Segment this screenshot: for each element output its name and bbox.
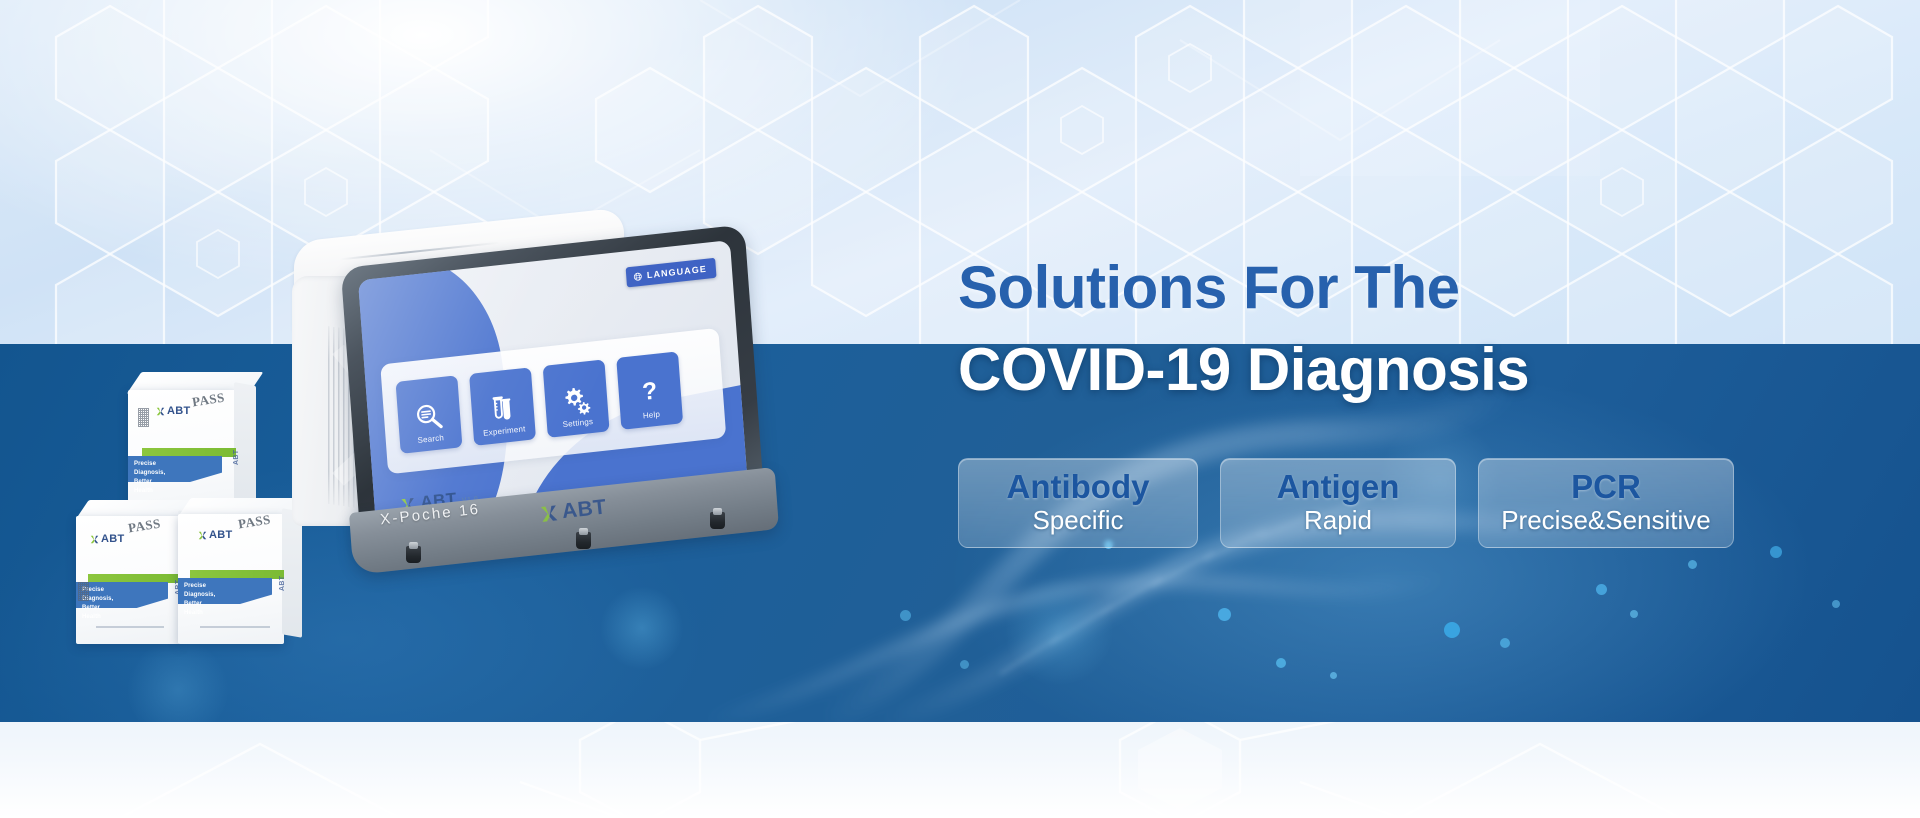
language-button[interactable]: LANGUAGE — [625, 258, 716, 288]
kit-box-qr-code — [138, 408, 149, 427]
app-label-search: Search — [417, 433, 444, 445]
kit-box-green-band — [190, 570, 284, 579]
pcr-instrument: LANGUAGE Search — [288, 228, 908, 628]
abt-x-icon — [198, 531, 207, 540]
abt-x-icon — [539, 503, 559, 523]
kit-box-tagline: Precise Diagnosis, Better Health — [134, 460, 165, 496]
kit-brand-text: ABT — [101, 534, 125, 545]
headline-line-1: Solutions For The — [958, 258, 1718, 318]
badge-antigen[interactable]: Antigen Rapid — [1220, 458, 1456, 548]
device-base-brand-text: ABT — [561, 496, 608, 522]
covid-diagnosis-banner: Precise Diagnosis, Better Health ABT PAS… — [0, 0, 1920, 818]
svg-text:?: ? — [641, 377, 658, 406]
kit-tagline-line2: Better Health — [82, 605, 101, 620]
kit-box-qr-code — [78, 582, 89, 601]
question-mark-icon: ? — [634, 376, 666, 409]
badge-pcr[interactable]: PCR Precise&Sensitive — [1478, 458, 1734, 548]
kit-box-tagline: Precise Diagnosis, Better Health — [184, 582, 215, 618]
device-foot — [710, 512, 725, 529]
kit-brand-text: ABT — [209, 530, 233, 541]
abt-x-icon — [156, 407, 165, 416]
badge-pcr-title: PCR — [1495, 469, 1717, 505]
gears-icon — [560, 384, 592, 417]
badge-antibody[interactable]: Antibody Specific — [958, 458, 1198, 548]
badge-pcr-subtitle: Precise&Sensitive — [1495, 506, 1717, 535]
kit-box-fineprint — [200, 626, 270, 628]
app-label-help: Help — [643, 410, 661, 421]
app-tile-search[interactable]: Search — [396, 375, 463, 454]
kit-box-brand-logo: ABT — [90, 534, 125, 545]
headline-line-2: COVID-19 Diagnosis — [958, 340, 1529, 400]
magnifier-icon — [413, 400, 445, 433]
kit-box-green-band — [88, 574, 180, 583]
abt-x-icon — [90, 535, 99, 544]
globe-icon — [633, 271, 643, 281]
kit-tagline-line1: Precise Diagnosis, — [134, 461, 165, 476]
footer-hexagon-decoration — [0, 722, 1920, 818]
app-tile-settings[interactable]: Settings — [543, 359, 610, 438]
app-tile-experiment[interactable]: Experiment — [469, 367, 536, 446]
kit-box-brand-logo: ABT — [198, 530, 233, 541]
test-tube-icon — [487, 392, 519, 425]
device-foot — [406, 546, 421, 563]
badge-antibody-subtitle: Specific — [975, 506, 1181, 535]
app-label-settings: Settings — [562, 417, 593, 429]
kit-brand-text: ABT — [167, 406, 191, 417]
device-foot — [576, 532, 591, 549]
badge-antigen-title: Antigen — [1237, 469, 1439, 505]
feature-badge-group: Antibody Specific Antigen Rapid PCR Prec… — [958, 458, 1734, 548]
headline-block: Solutions For The COVID-19 Diagnosis — [958, 258, 1718, 318]
kit-box-brand-logo: ABT — [156, 406, 191, 417]
app-tile-help[interactable]: ? Help — [616, 351, 683, 430]
kit-tagline-line2: Better Health — [134, 479, 153, 494]
kit-tagline-line2: Better Health — [184, 601, 203, 616]
language-button-label: LANGUAGE — [647, 264, 708, 280]
kit-box-side-brand: ABT — [233, 450, 240, 465]
kit-tagline-line1: Precise Diagnosis, — [184, 583, 215, 598]
kit-box-fineprint — [96, 626, 164, 628]
badge-antigen-subtitle: Rapid — [1237, 506, 1439, 535]
kit-box-side-face — [234, 382, 256, 512]
kit-box-green-band — [142, 448, 236, 457]
kit-box-side-brand: ABT — [279, 576, 286, 591]
badge-antibody-title: Antibody — [975, 469, 1181, 505]
app-label-experiment: Experiment — [483, 424, 526, 438]
